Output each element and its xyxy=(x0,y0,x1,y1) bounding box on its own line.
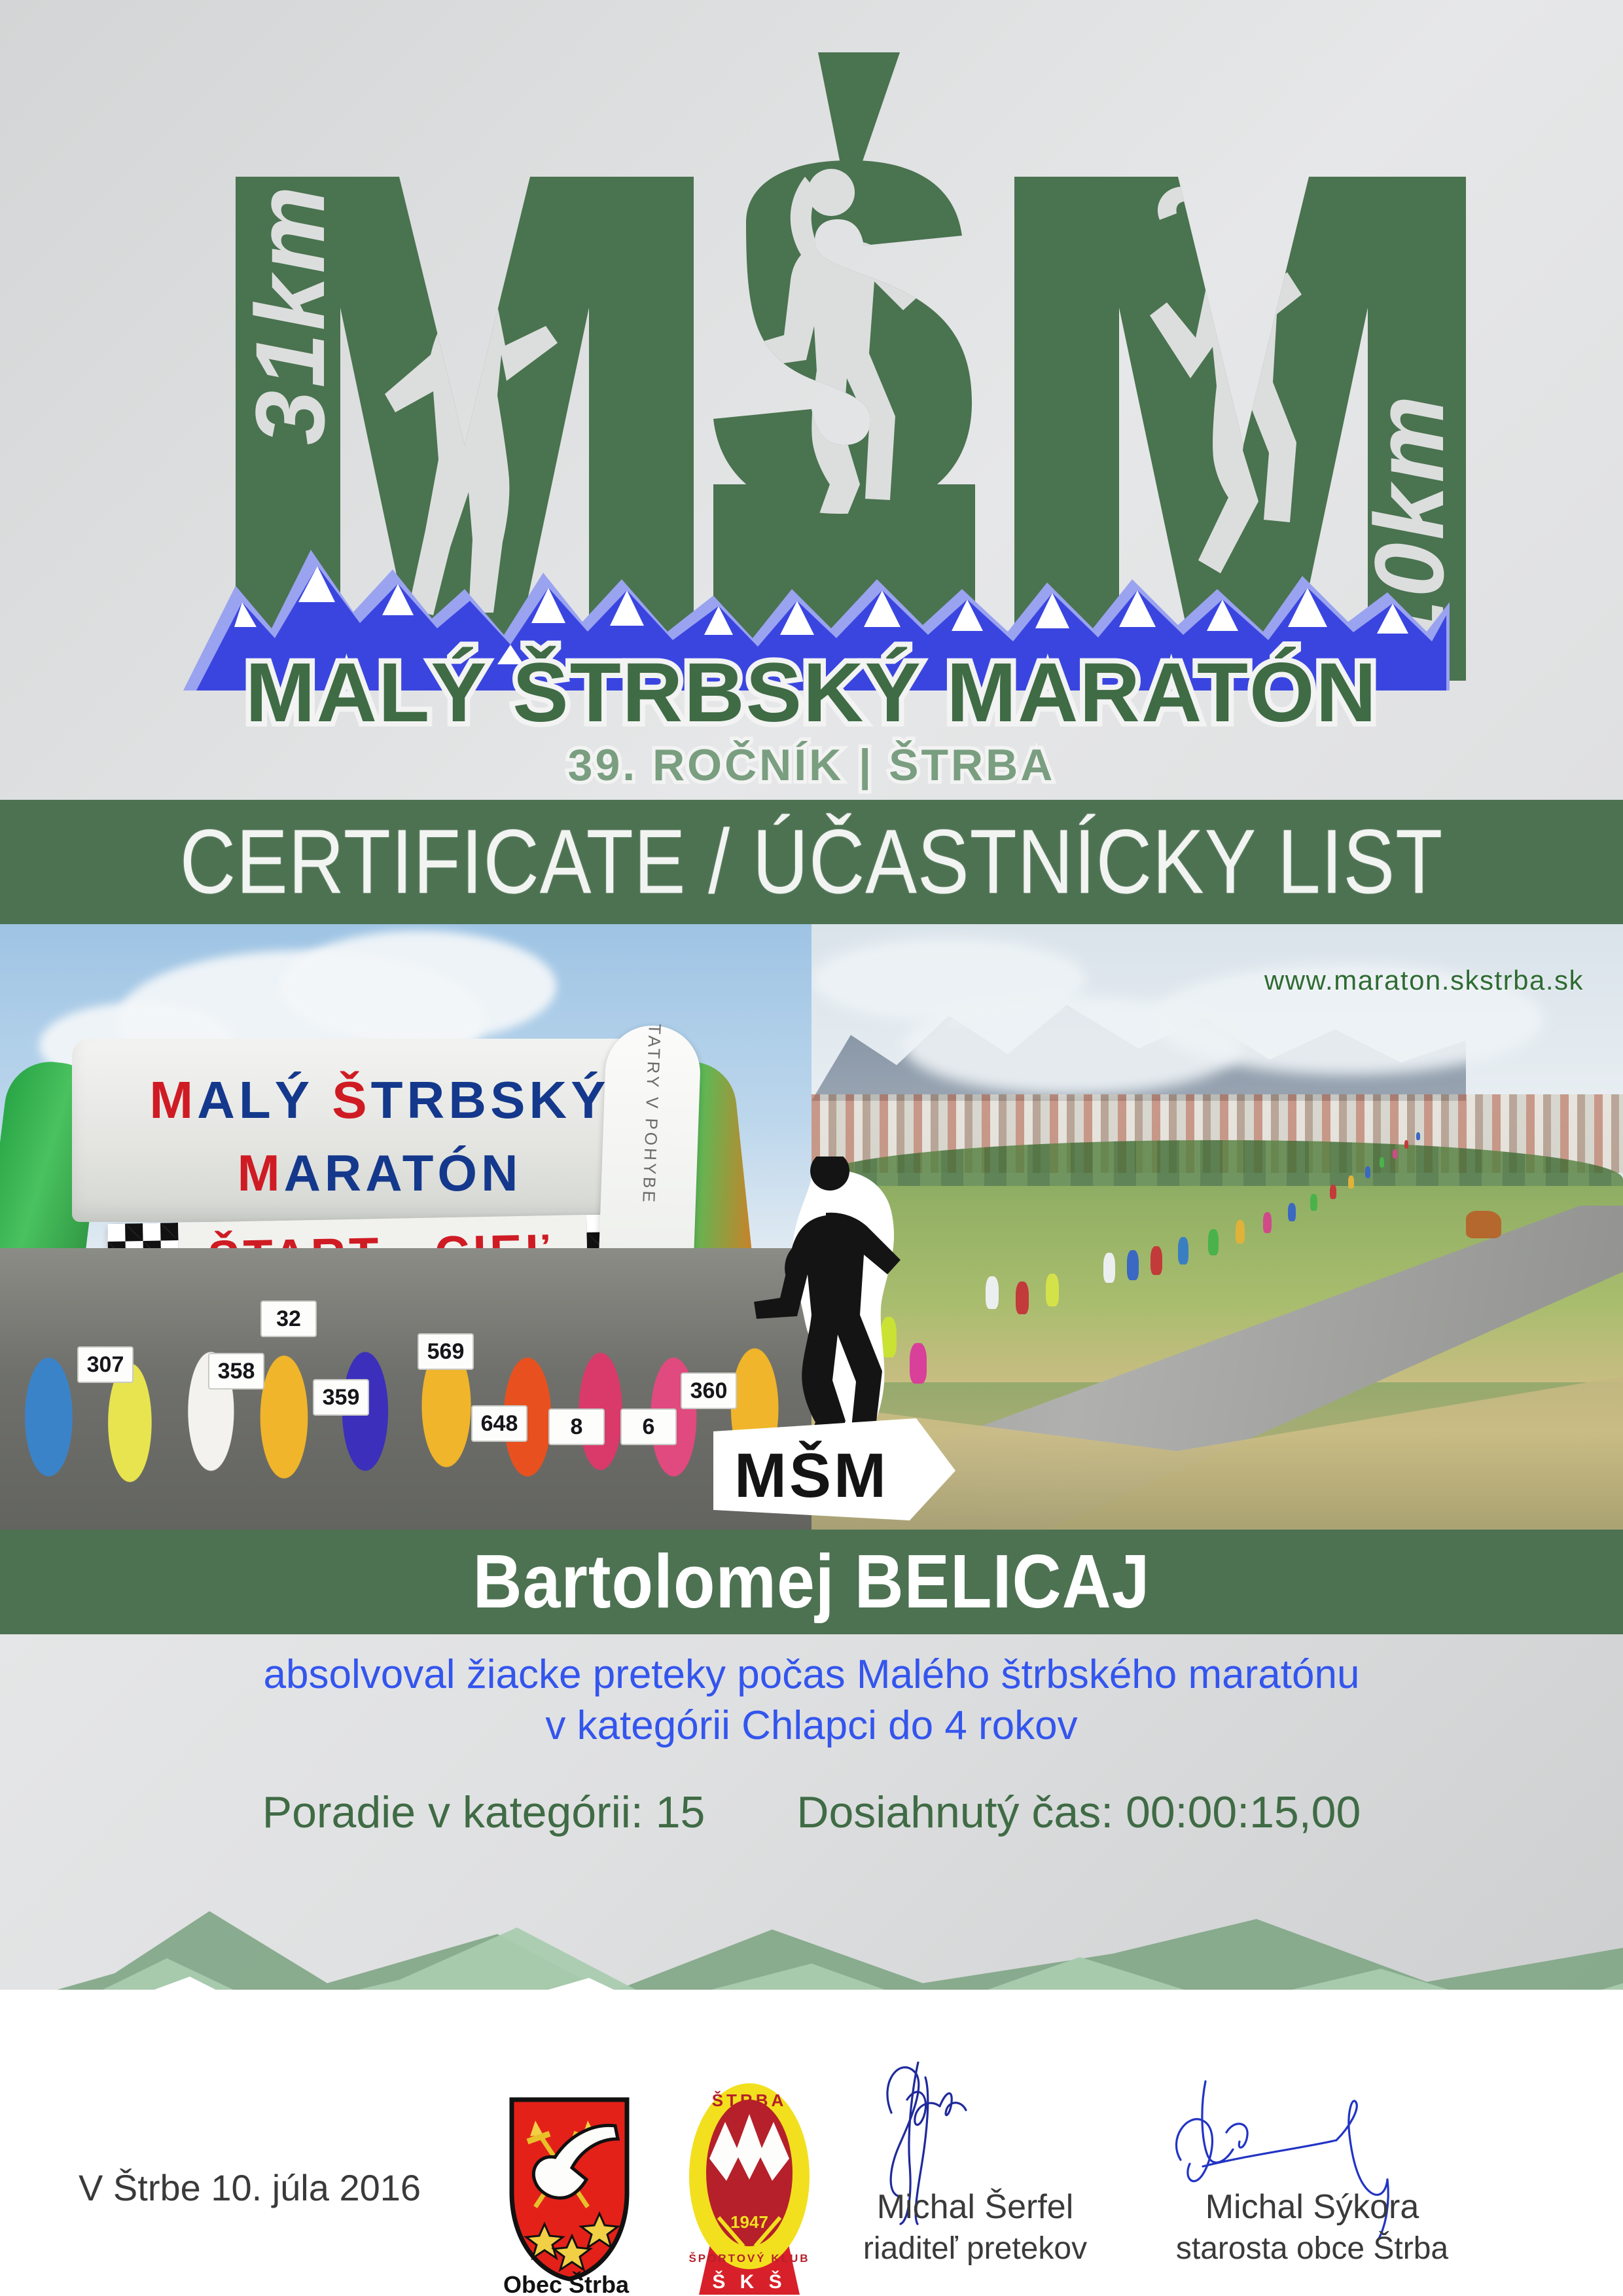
bib-number: 358 xyxy=(208,1353,264,1390)
runner-figure xyxy=(1046,1274,1059,1306)
bib-number: 307 xyxy=(77,1346,134,1383)
certificate-title-text: CERTIFICATE / ÚČASTNÍCKY LIST xyxy=(180,810,1443,914)
runner-figure xyxy=(1288,1203,1296,1221)
cow-figure xyxy=(1466,1211,1501,1238)
photo-start-line: MALÝ ŠTRBSKÝ MARATÓN ŠTART - CIEĽ TATRY … xyxy=(0,924,811,1530)
runner-figure xyxy=(1150,1246,1162,1275)
arch-line1-rest2: TRBSKÝ xyxy=(371,1071,610,1129)
runner-figure xyxy=(1365,1166,1370,1178)
sks-top-text: ŠTRBA xyxy=(712,2090,787,2110)
bib-number: 8 xyxy=(548,1408,605,1445)
arch-banner-top: MALÝ ŠTRBSKÝ MARATÓN xyxy=(72,1039,687,1222)
runner-figure xyxy=(986,1276,999,1309)
issue-date: V Štrbe 10. júla 2016 xyxy=(79,2166,421,2209)
category-rank: Poradie v kategórii: 15 xyxy=(262,1787,705,1838)
participant-name-text: Bartolomej BELICAJ xyxy=(473,1538,1150,1625)
bib-number: 569 xyxy=(418,1333,474,1370)
participant-name-bar: Bartolomej BELICAJ xyxy=(0,1530,1623,1634)
photo-strip: MALÝ ŠTRBSKÝ MARATÓN ŠTART - CIEĽ TATRY … xyxy=(0,924,1623,1530)
runner-figure xyxy=(1310,1194,1317,1211)
results-row: Poradie v kategórii: 15 Dosiahnutý čas: … xyxy=(0,1787,1623,1838)
arch-line1-initial: M xyxy=(149,1071,197,1129)
svg-text:MŠM: MŠM xyxy=(734,1440,889,1511)
signer-name: Michal Šerfel xyxy=(844,2187,1106,2227)
strba-coat-of-arms-icon xyxy=(504,2094,635,2284)
runner-figure xyxy=(1404,1140,1408,1149)
runner-figure xyxy=(1236,1220,1245,1244)
footer-content: V Štrbe 10. júla 2016 xyxy=(0,1885,1623,2296)
bib-number: 359 xyxy=(313,1379,369,1416)
logo-letter-s-middle xyxy=(713,160,975,681)
arch-line1-initial2: Š xyxy=(332,1071,370,1129)
runner-figure xyxy=(1103,1253,1115,1283)
footer-zone: V Štrbe 10. júla 2016 xyxy=(0,1885,1623,2296)
bib-number: 6 xyxy=(620,1408,677,1445)
caron-accent xyxy=(818,52,900,167)
msm-badge-text: MŠM xyxy=(713,1418,955,1520)
sks-year: 1947 xyxy=(730,2212,768,2232)
runner-crowd: 307 358 32 359 569 648 8 6 360 xyxy=(0,1248,811,1530)
msm-runner-cutout-badge: MŠM xyxy=(713,1157,955,1523)
arch-line2-initial: M xyxy=(238,1144,284,1202)
bib-number: 648 xyxy=(471,1405,527,1442)
feather-flag-text: TATRY V POHYBE xyxy=(638,1024,665,1206)
signer-role: riaditeľ pretekov xyxy=(844,2231,1106,2267)
signer-role: starosta obce Štrba xyxy=(1171,2231,1453,2267)
crest-label: Obec Štrba xyxy=(484,2271,648,2296)
arch-text-line1: MALÝ ŠTRBSKÝ xyxy=(72,1070,687,1130)
sks-arc-text: ŠPORTOVÝ KLUB xyxy=(688,2252,810,2265)
sks-bottom-text: Š K Š xyxy=(712,2270,786,2293)
cloud xyxy=(811,937,1086,1022)
runner-figure xyxy=(1348,1175,1354,1189)
bib-number: 32 xyxy=(260,1300,317,1337)
runner-figure xyxy=(1380,1157,1384,1168)
signer-name: Michal Sýkora xyxy=(1171,2187,1453,2227)
runner-figure xyxy=(1393,1149,1397,1158)
arch-text-line2: MARATÓN xyxy=(72,1143,687,1203)
sks-club-logo-icon: 1947 ŠTRBA Š K Š ŠPORTOVÝ KLUB xyxy=(681,2081,818,2296)
runner-figure xyxy=(1208,1229,1219,1255)
event-name-text: MALÝ ŠTRBSKÝ MARATÓN xyxy=(245,646,1378,740)
runner-figure xyxy=(1416,1132,1420,1140)
svg-text:31km: 31km xyxy=(235,183,345,445)
event-edition-text: 39. ROČNÍK | ŠTRBA xyxy=(568,740,1056,791)
msm-logo-svg: 31km 10km xyxy=(157,26,1466,798)
runner-figure xyxy=(1127,1250,1139,1280)
runner-figure xyxy=(1263,1212,1272,1233)
website-url: www.maraton.skstrba.sk xyxy=(1264,965,1584,996)
description-line-2: v kategórii Chlapci do 4 rokov xyxy=(0,1700,1623,1751)
runner-figure xyxy=(1178,1237,1188,1265)
runner-figure xyxy=(1016,1282,1029,1314)
certificate-page: 31km 10km xyxy=(0,0,1623,2296)
event-logo-block: 31km 10km xyxy=(0,0,1623,795)
participant-description: absolvoval žiacke preteky počas Malého š… xyxy=(0,1649,1623,1751)
description-line-1: absolvoval žiacke preteky počas Malého š… xyxy=(0,1649,1623,1700)
arch-line1-rest: ALÝ xyxy=(197,1071,332,1129)
runner-figure xyxy=(1330,1185,1336,1199)
certificate-title-bar: CERTIFICATE / ÚČASTNÍCKY LIST xyxy=(0,800,1623,924)
achieved-time: Dosiahnutý čas: 00:00:15,00 xyxy=(796,1787,1361,1838)
arch-line2-rest: ARATÓN xyxy=(284,1144,522,1202)
